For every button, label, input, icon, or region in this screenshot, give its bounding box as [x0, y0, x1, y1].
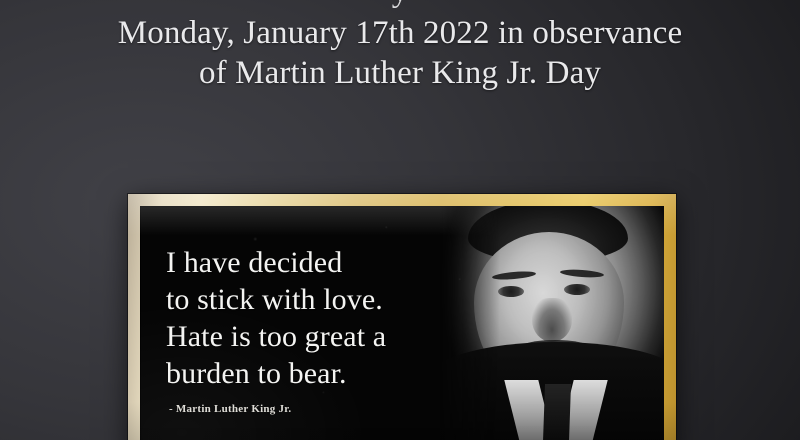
quote-line-4: burden to bear.	[166, 355, 496, 392]
quote-block: I have decided to stick with love. Hate …	[166, 244, 496, 416]
quote-line-2: to stick with love.	[166, 281, 496, 318]
quote-line-3: Hate is too great a	[166, 318, 496, 355]
portrait-eye-left	[498, 286, 524, 297]
headline-line-1: Monday, January 17th 2022 in observance	[0, 13, 800, 53]
poster-image: y Monday, January 17th 2022 in observanc…	[0, 0, 800, 440]
headline-line-2: of Martin Luther King Jr. Day	[0, 53, 800, 93]
portrait-nose	[532, 298, 572, 342]
quote-attribution: - Martin Luther King Jr.	[169, 402, 496, 416]
quote-line-1: I have decided	[166, 244, 496, 281]
headline: Monday, January 17th 2022 in observance …	[0, 13, 800, 93]
quote-poster-frame: I have decided to stick with love. Hate …	[128, 194, 676, 440]
cropped-top-text: y	[0, 0, 800, 11]
quote-poster: I have decided to stick with love. Hate …	[140, 206, 664, 440]
portrait-tie	[543, 384, 571, 440]
portrait-eye-right	[564, 284, 590, 295]
